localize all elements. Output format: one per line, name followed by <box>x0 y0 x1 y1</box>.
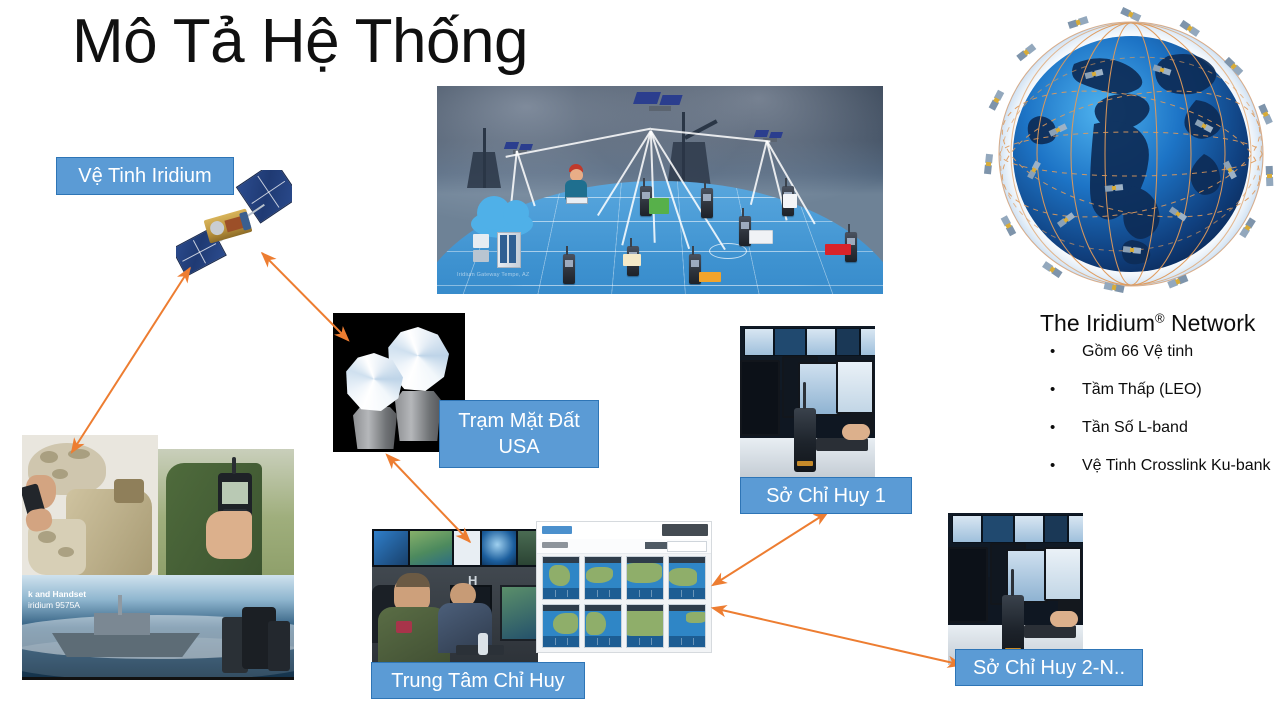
wall-screen-globe <box>482 531 516 565</box>
iridium-logo <box>542 526 572 534</box>
network-title-suffix: Network <box>1171 310 1255 336</box>
list-item: • Tầm Thấp (LEO) <box>1050 380 1280 400</box>
ambulance-white <box>749 230 773 244</box>
radome-base-back <box>395 391 441 441</box>
workstation-monitor-right <box>500 585 538 641</box>
arrow-collage-to-satellite <box>72 268 190 452</box>
label-hq1[interactable]: Sở Chỉ Huy 1 <box>740 477 912 514</box>
cargo-orange <box>699 272 721 282</box>
bullet-dot-icon: • <box>1050 380 1082 400</box>
satellite-bus <box>204 208 253 243</box>
label-ground-station[interactable]: Trạm Mặt Đất USA <box>439 400 599 468</box>
hand <box>206 511 252 559</box>
network-panel-title: The Iridium® Network <box>1040 310 1255 337</box>
map-tile[interactable] <box>626 556 664 600</box>
iridium-web-dashboard[interactable] <box>536 521 712 653</box>
network-bullet-list: • Gồm 66 Vệ tinh • Tầm Thấp (LEO) • Tần … <box>1050 342 1280 494</box>
map-tile[interactable] <box>668 604 706 648</box>
military-satphone-collage: k and Handset iridium 9575A <box>22 435 294 680</box>
hand-holding-satphone-photo <box>158 449 294 575</box>
gateway-box <box>473 234 489 248</box>
registered-mark-icon: ® <box>1155 310 1165 325</box>
iridium-constellation-globe <box>982 4 1280 304</box>
hand-on-keyboard <box>842 424 870 440</box>
account-menu[interactable] <box>662 524 708 536</box>
monitor-left <box>740 360 780 436</box>
iridium-handset-secondary <box>268 621 290 671</box>
device-2 <box>701 188 713 218</box>
globe-svg <box>982 4 1280 304</box>
wall-screen-1 <box>374 531 408 565</box>
monitor-right <box>1044 547 1082 601</box>
list-item-label: Vệ Tinh Crosslink Ku-bank <box>1082 456 1280 476</box>
phone-screen <box>222 482 248 504</box>
gateway-box-2 <box>473 250 489 262</box>
soldier-with-radio-photo <box>22 435 158 575</box>
view-toggle-icons[interactable] <box>645 542 667 549</box>
map-tile[interactable] <box>542 556 580 600</box>
network-title-text: The Iridium <box>1040 310 1155 336</box>
operations-center-photo-2 <box>948 513 1083 665</box>
collage-divider <box>22 677 294 680</box>
operations-center-photo-1 <box>740 326 875 478</box>
collage-caption-line1: k and Handset <box>28 589 86 600</box>
map-tile[interactable] <box>584 556 622 600</box>
device-5 <box>563 254 575 284</box>
slide-canvas: Mô Tả Hệ Thống <box>0 0 1288 715</box>
label-command-center[interactable]: Trung Tâm Chỉ Huy <box>371 662 585 699</box>
map-tile[interactable] <box>668 556 706 600</box>
map-tile[interactable] <box>584 604 622 648</box>
hero-caption: Iridium Gateway Tempe, AZ <box>457 272 529 278</box>
wall-screen-weather-map <box>410 531 452 565</box>
cargo-cream <box>623 254 641 266</box>
list-item-label: Tầm Thấp (LEO) <box>1082 380 1280 400</box>
water-bottle <box>478 633 488 655</box>
list-item-label: Gồm 66 Vệ tinh <box>1082 342 1280 362</box>
talkgroups-label <box>542 542 568 548</box>
handheld-radio <box>794 408 816 472</box>
label-satellite[interactable]: Vệ Tinh Iridium <box>56 157 234 195</box>
search-input[interactable] <box>667 541 707 552</box>
collage-caption-line2: iridium 9575A <box>28 600 80 611</box>
label-hq2[interactable]: Sở Chỉ Huy 2-N.. <box>955 649 1143 686</box>
list-item: • Vệ Tinh Crosslink Ku-bank <box>1050 456 1280 476</box>
monitor-right <box>836 360 874 414</box>
map-tile[interactable] <box>626 604 664 648</box>
map-tile-grid <box>542 556 706 648</box>
list-item-label: Tần Số L-band <box>1082 418 1280 438</box>
page-title: Mô Tả Hệ Thống <box>72 6 528 78</box>
cargo-green <box>649 198 669 214</box>
list-item: • Tần Số L-band <box>1050 418 1280 438</box>
bullet-dot-icon: • <box>1050 456 1082 476</box>
hand-on-keyboard <box>1050 611 1078 627</box>
military-command-center-photo: H <box>372 529 538 675</box>
satellite-top-center <box>635 92 681 114</box>
uniform-patch <box>396 621 412 633</box>
navy-ship-handset-photo: k and Handset iridium 9575A <box>22 575 294 677</box>
monitor-left <box>948 547 988 623</box>
list-item: • Gồm 66 Vệ tinh <box>1050 342 1280 362</box>
map-tile[interactable] <box>542 604 580 648</box>
arrow-dashboard-to-hq1 <box>713 512 828 585</box>
server-rack-icon <box>497 232 521 268</box>
wall-screen-5 <box>518 531 536 565</box>
cargo-white <box>783 194 797 208</box>
antenna <box>232 457 236 474</box>
truck-red <box>825 244 851 255</box>
bullet-dot-icon: • <box>1050 418 1082 438</box>
iridium-network-illustration: Iridium Gateway Tempe, AZ <box>437 86 883 294</box>
radome-base-front <box>353 407 397 449</box>
arrow-dashboard-to-hq2 <box>713 608 962 665</box>
backpack-strap <box>114 479 144 503</box>
bullet-dot-icon: • <box>1050 342 1082 362</box>
wall-screen-blank <box>454 531 480 565</box>
